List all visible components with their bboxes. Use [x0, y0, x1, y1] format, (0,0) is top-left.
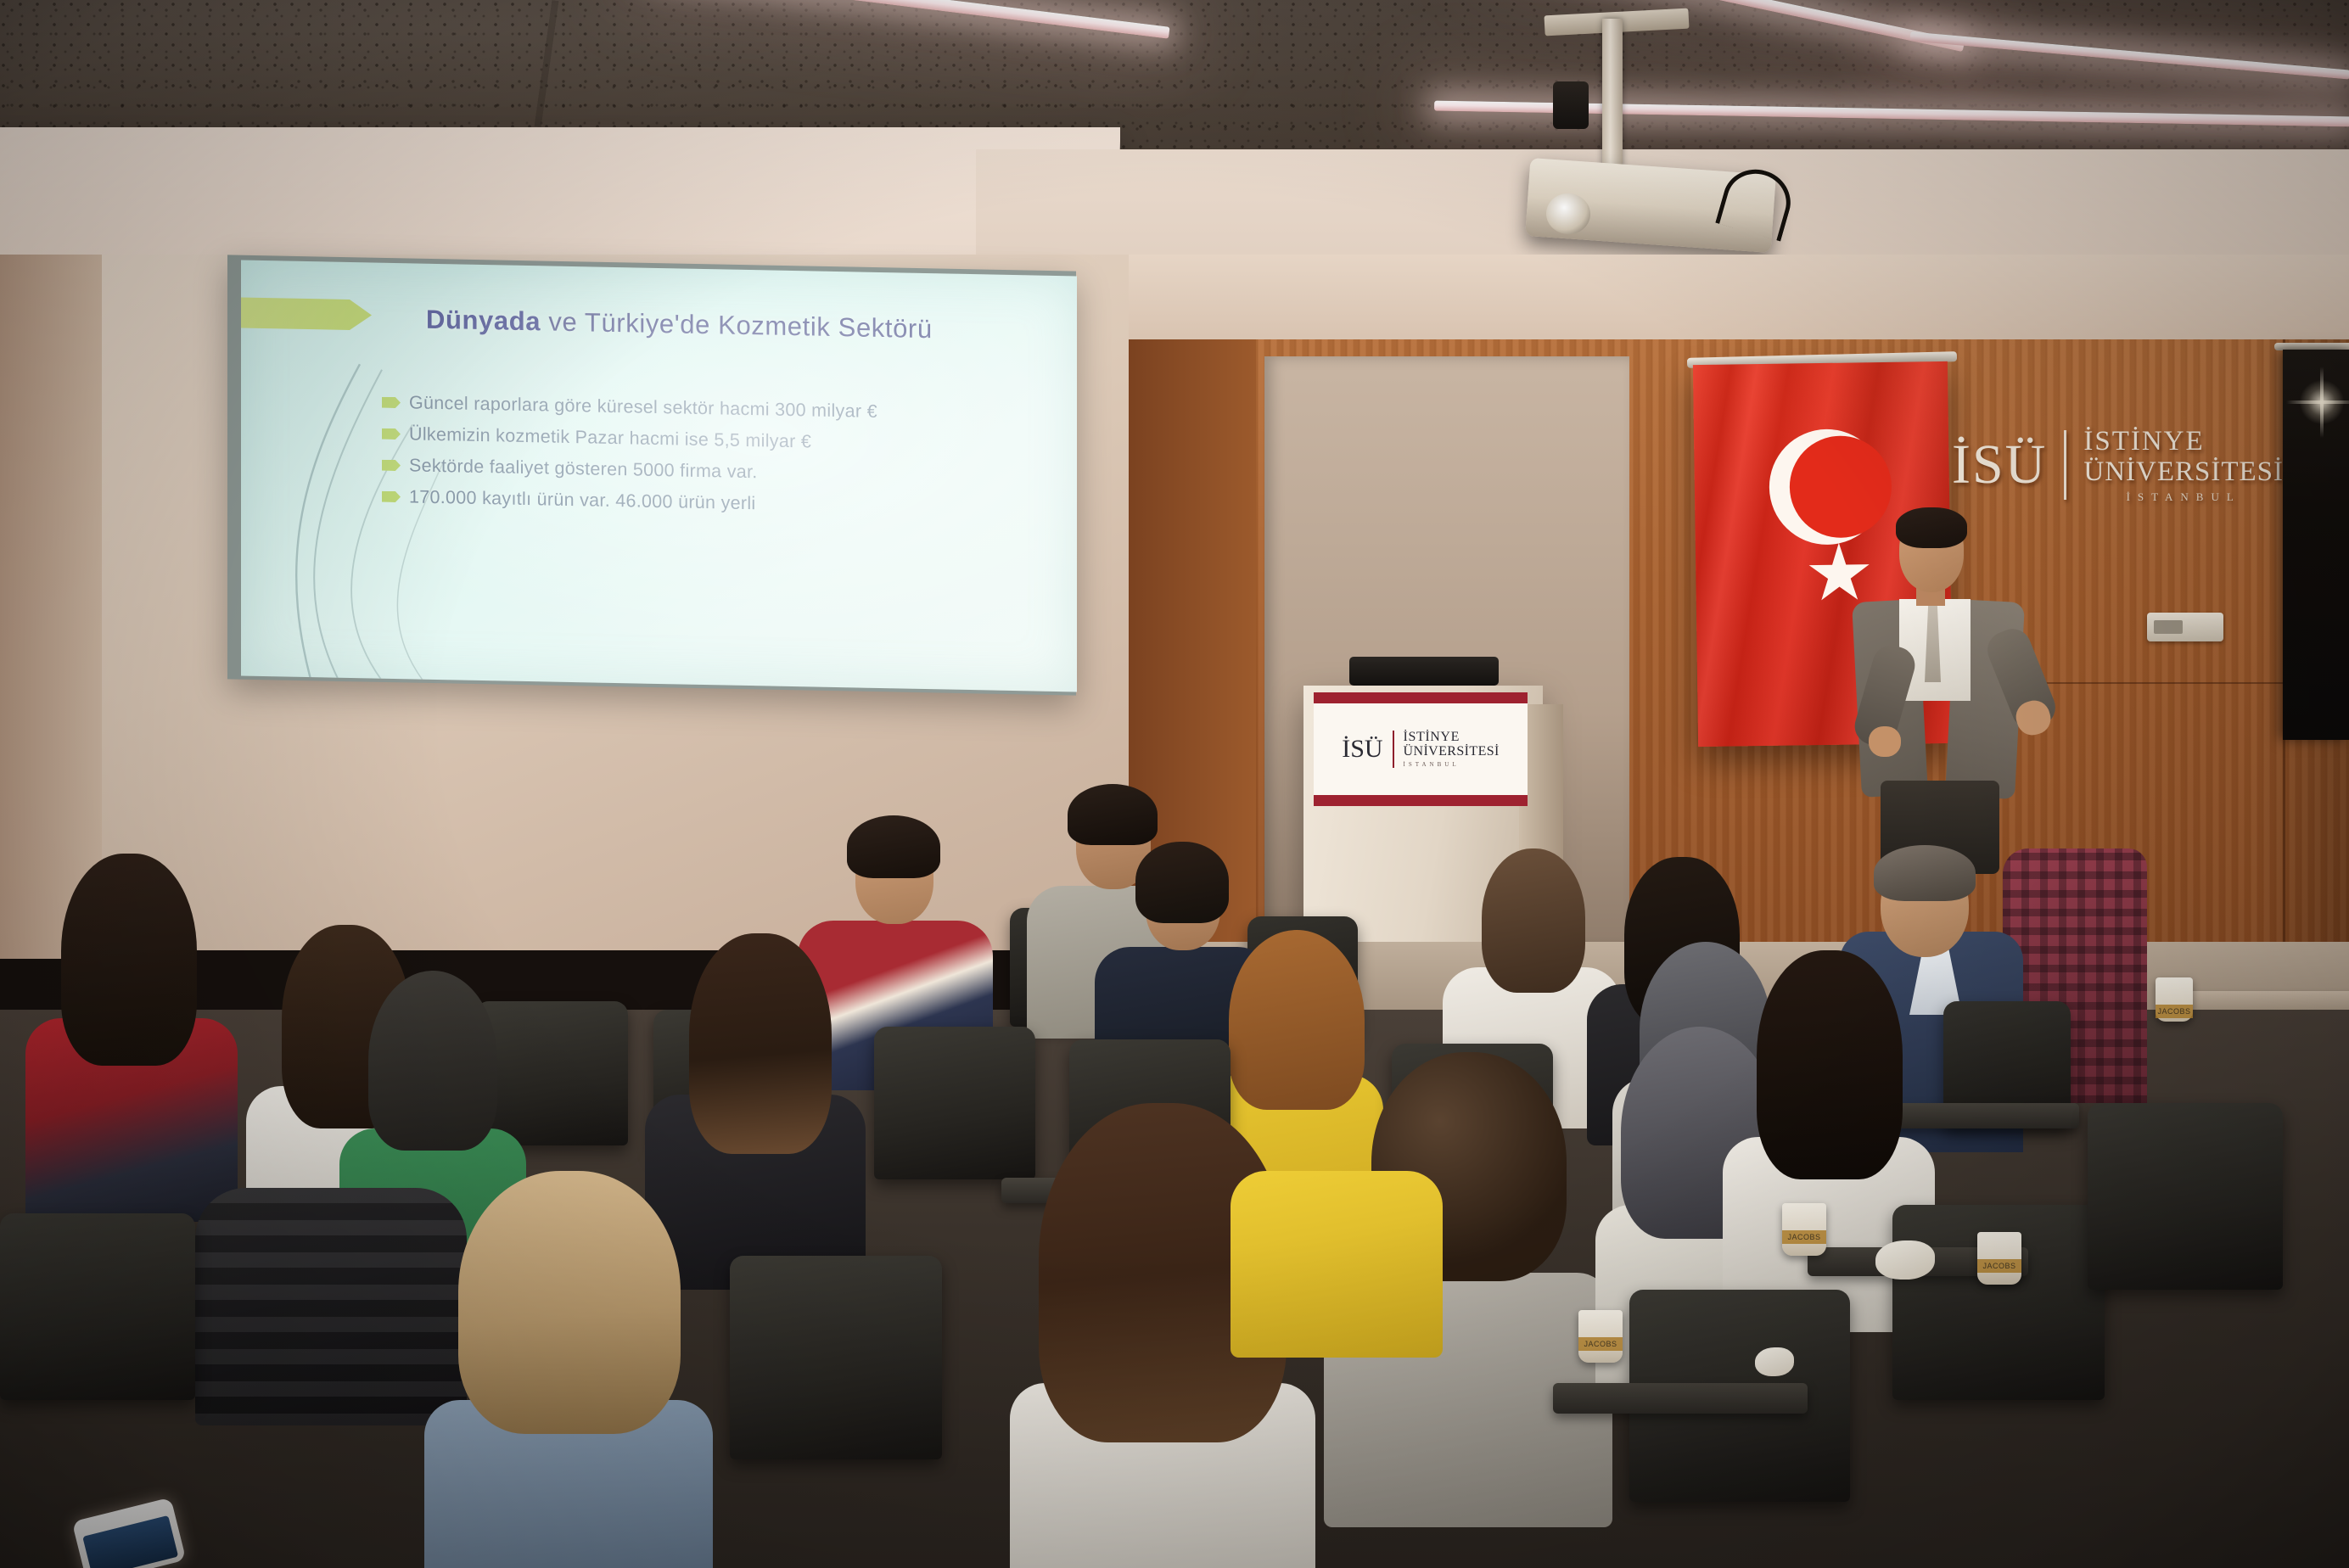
projector-mount-pole: [1602, 19, 1623, 176]
wall-banner-poster: [2283, 350, 2349, 740]
smoke-detector: [1553, 81, 1589, 129]
audience-member: [424, 1171, 713, 1568]
podium-logo-line1: İSTİNYE: [1404, 731, 1500, 745]
audience-member: [1231, 1018, 1443, 1341]
wall-logo-line1: İSTİNYE: [2083, 428, 2284, 456]
audience-hair: [1482, 848, 1585, 993]
audience-member-suit-hair: [1874, 845, 1976, 901]
bullet-arrow-icon: [382, 397, 401, 408]
presenter: [1850, 501, 2062, 865]
slide-bullet-text: 170.000 kayıtlı ürün var. 46.000 ürün ye…: [409, 486, 756, 514]
audience-torso: [1231, 1171, 1443, 1358]
podium-logo-line3: İSTANBUL: [1404, 762, 1500, 768]
presenter-hair: [1896, 507, 1967, 548]
lectern-logo-plate: İSÜ İSTİNYE ÜNİVERSİTESİ İSTANBUL: [1314, 692, 1528, 806]
audience-hair: [1135, 842, 1229, 923]
slide-bullet-item: Güncel raporlara göre küresel sektör hac…: [382, 392, 1052, 426]
slide-bullet-text: Güncel raporlara göre küresel sektör hac…: [409, 392, 877, 423]
banner-starburst-icon: [2296, 377, 2347, 428]
slide-title-arrow-accent: [241, 297, 350, 330]
crumpled-napkin: [1755, 1347, 1794, 1376]
audience-hair: [1757, 950, 1903, 1179]
podium-logo-line2: ÜNİVERSİTESİ: [1404, 745, 1500, 759]
audience-hair: [61, 854, 197, 1066]
wall-logo-wordmark: İSTİNYE ÜNİVERSİTESİ İSTANBUL: [2083, 428, 2284, 502]
bullet-arrow-icon: [382, 460, 401, 471]
wall-power-outlet: [2147, 613, 2223, 641]
podium-logo-wordmark: İSTİNYE ÜNİVERSİTESİ İSTANBUL: [1404, 731, 1500, 768]
crumpled-napkin: [1875, 1240, 1935, 1280]
folding-desk-tablet: [1553, 1383, 1808, 1414]
audience-hair: [847, 815, 940, 878]
coffee-cup-brand-band: JACOBS: [1977, 1259, 2021, 1273]
slide-bullet-list: Güncel raporlara göre küresel sektör hac…: [382, 392, 1052, 530]
slide-bullet-item: 170.000 kayıtlı ürün var. 46.000 ürün ye…: [382, 486, 1052, 520]
coffee-cup-brand-band: JACOBS: [1578, 1337, 1623, 1351]
podium-logo-mark: İSÜ: [1342, 735, 1382, 764]
coffee-cup: JACOBS: [1578, 1310, 1623, 1363]
coffee-cup: JACOBS: [1977, 1232, 2021, 1285]
auditorium-chair: [730, 1256, 942, 1459]
projection-screen: Dünyada ve Türkiye'de Kozmetik Sektörü G…: [241, 260, 1077, 692]
wall-logo-divider: [2064, 430, 2066, 500]
coffee-cup: JACOBS: [2156, 977, 2193, 1022]
audience-hair: [689, 933, 832, 1154]
slide-bullet-text: Ülkemizin kozmetik Pazar hacmi ise 5,5 m…: [409, 423, 811, 452]
coffee-cup: JACOBS: [1782, 1203, 1826, 1256]
wall-logo-mark: İSÜ: [1952, 433, 2047, 497]
slide-bullet-text: Sektörde faaliyet gösteren 5000 firma va…: [409, 455, 758, 483]
podium-logo-divider: [1393, 731, 1394, 768]
podium-microphone: [1349, 657, 1499, 686]
slide-title-rest: ve Türkiye'de Kozmetik Sektörü: [541, 306, 933, 344]
slide-bullet-item: Ülkemizin kozmetik Pazar hacmi ise 5,5 m…: [382, 423, 1052, 457]
wall-logo-line3: İSTANBUL: [2083, 491, 2284, 502]
audience-hair: [458, 1171, 681, 1434]
lecture-hall-photo: Dünyada ve Türkiye'de Kozmetik Sektörü G…: [0, 0, 2349, 1568]
auditorium-chair: [2088, 1103, 2283, 1290]
smartphone-screen[interactable]: [82, 1515, 178, 1568]
presenter-hand-left: [1869, 726, 1901, 757]
bullet-arrow-icon: [382, 428, 401, 440]
slide-title-bold: Dünyada: [426, 305, 541, 337]
audience-hair: [1068, 784, 1158, 845]
coffee-cup-brand-band: JACOBS: [2156, 1005, 2193, 1018]
coffee-cup-brand-band: JACOBS: [1782, 1230, 1826, 1244]
bullet-arrow-icon: [382, 491, 401, 502]
slide-bullet-item: Sektörde faaliyet gösteren 5000 firma va…: [382, 455, 1052, 489]
wall-logo-line2: ÜNİVERSİTESİ: [2083, 458, 2284, 486]
auditorium-chair: [0, 1213, 195, 1400]
